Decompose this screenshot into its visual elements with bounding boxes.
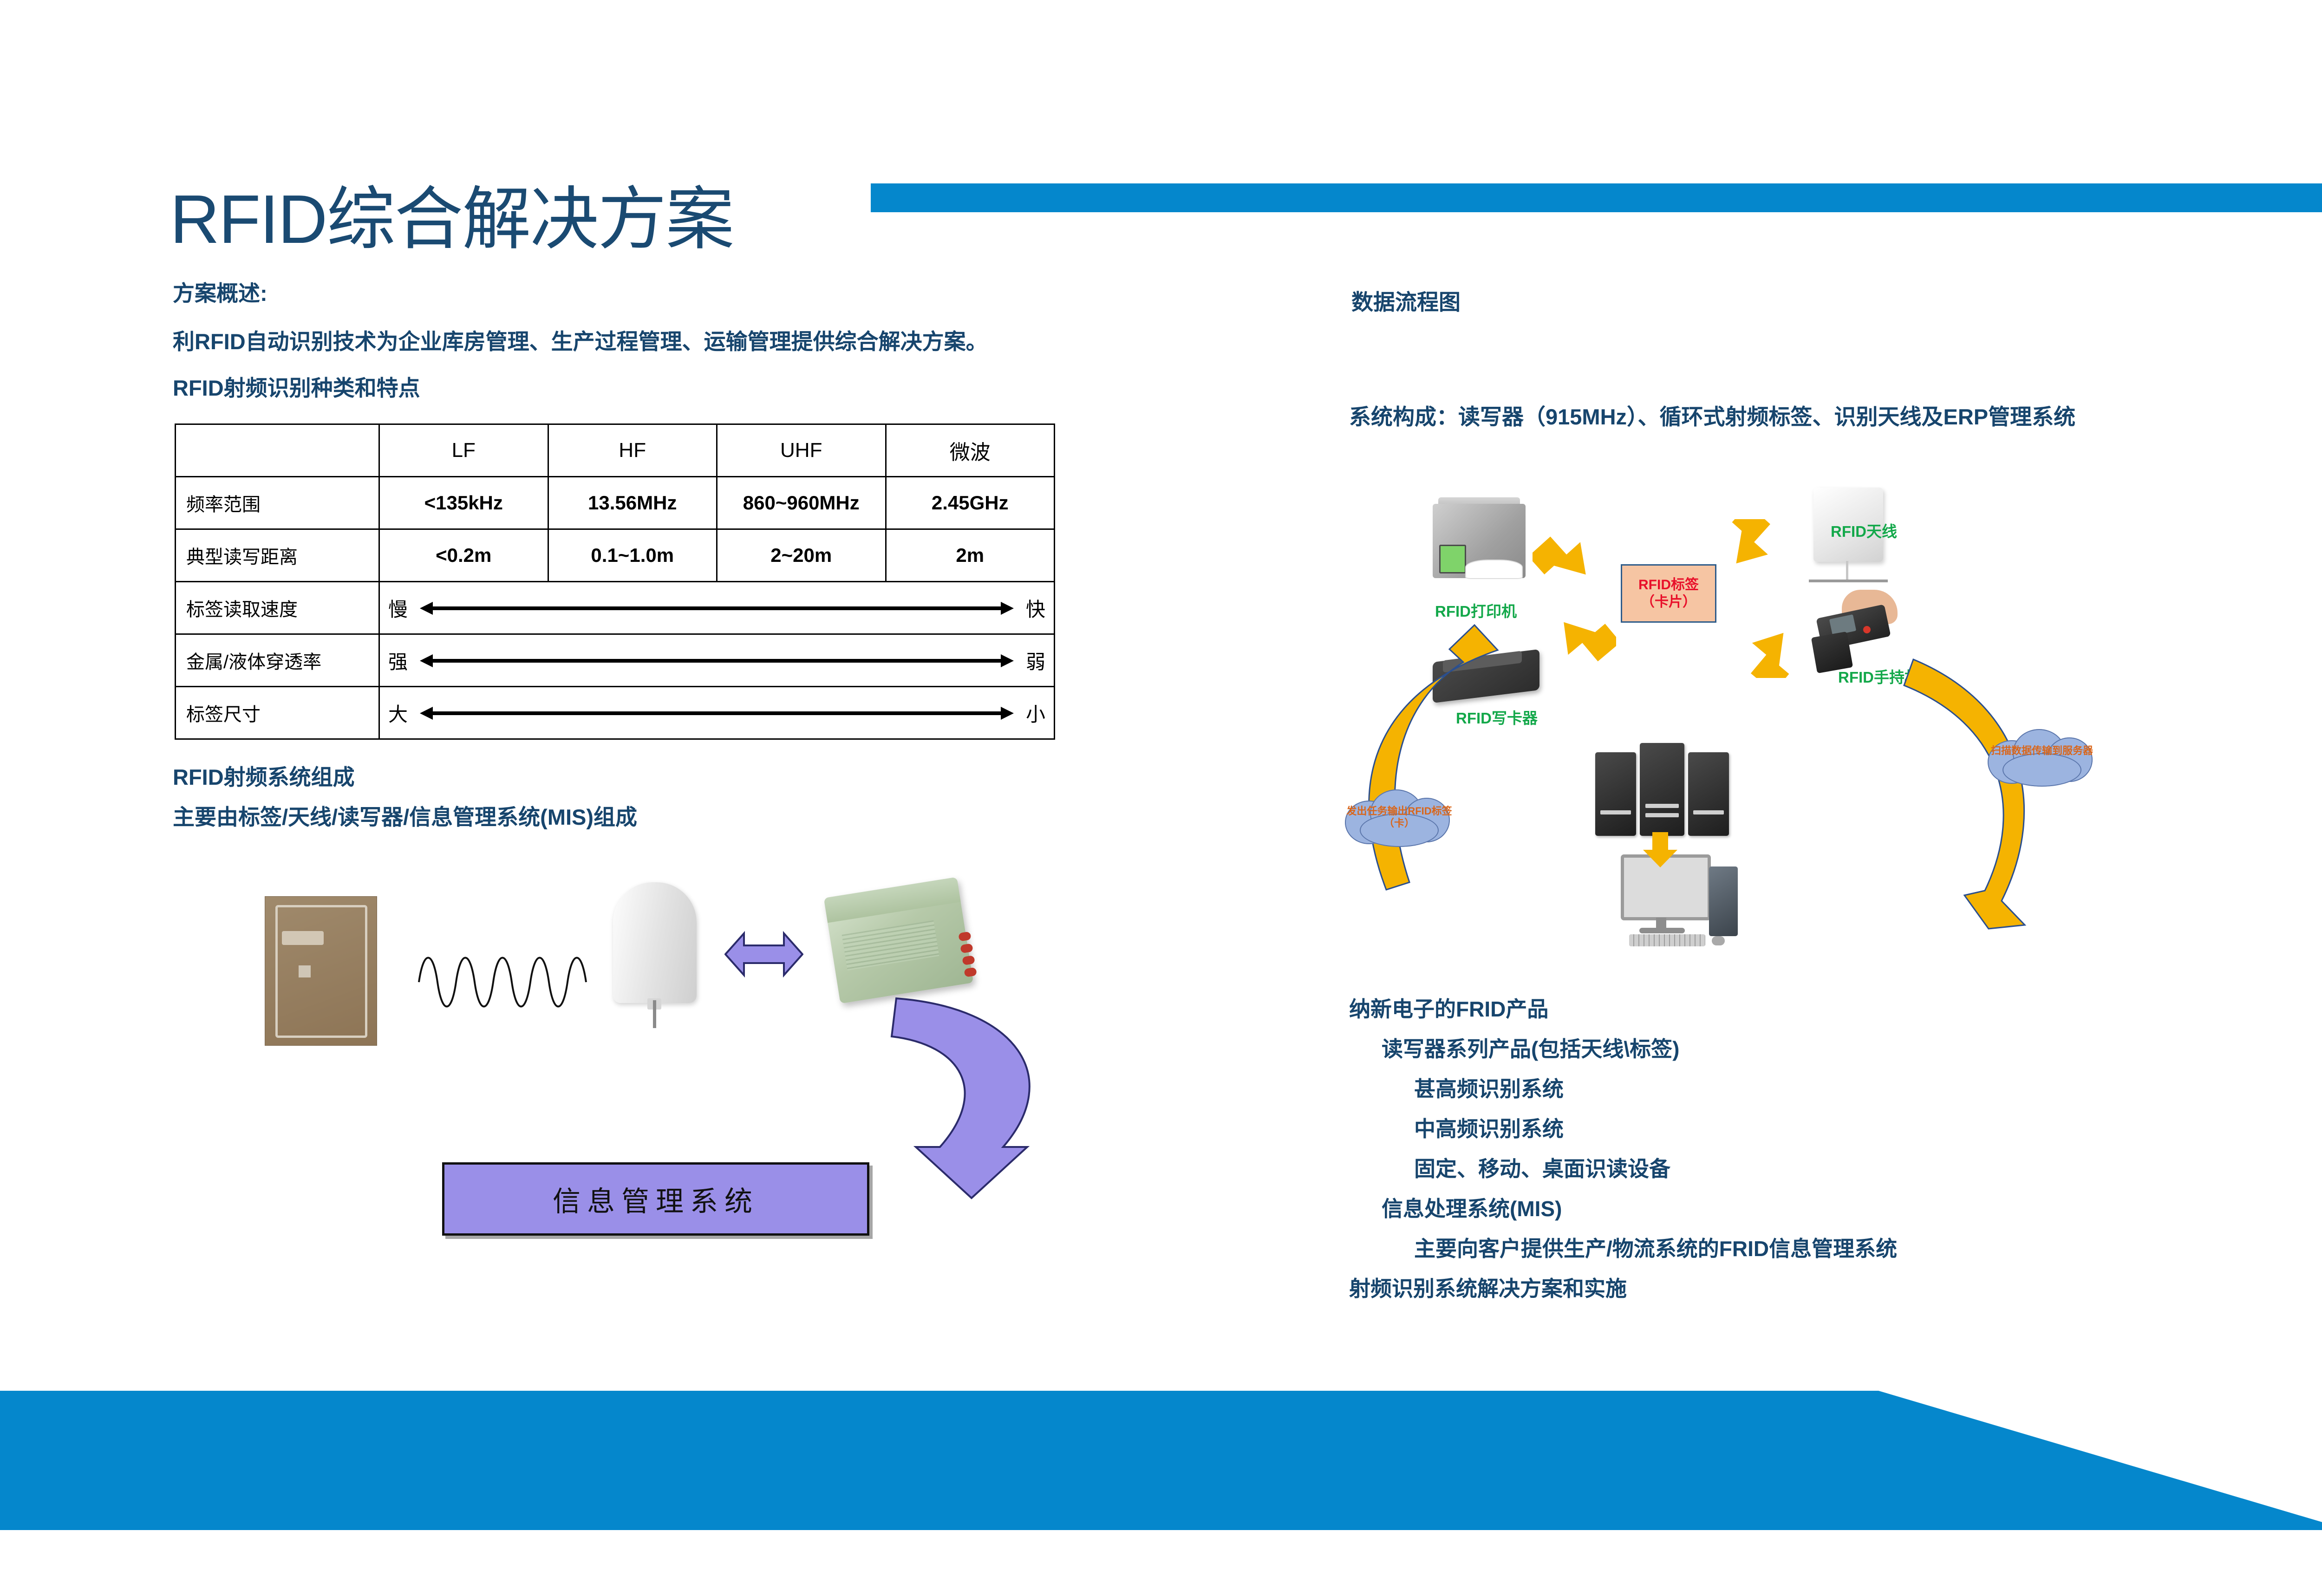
mis-box: 信息管理系统: [442, 1162, 869, 1236]
product-list-item: 主要向客户提供生产/物流系统的FRID信息管理系统: [1414, 1238, 1897, 1259]
table-cell: 13.56MHz: [548, 477, 717, 529]
rfid-antenna-label: RFID天线: [1831, 519, 1897, 541]
rfid-tag-box: RFID标签 （卡片）: [1621, 564, 1716, 623]
table-gradient-cell: 大小: [379, 687, 1055, 739]
table-cell: 860~960MHz: [717, 477, 886, 529]
rfid-tag-box-line1: RFID标签: [1638, 576, 1699, 594]
product-list-item: 中高频识别系统: [1414, 1118, 1564, 1140]
rf-wave-icon: [418, 947, 594, 1017]
system-composition-text: 主要由标签/天线/读写器/信息管理系统(MIS)组成: [173, 801, 637, 834]
table-cell: 2m: [886, 529, 1055, 582]
cloud-right: 扫描数据传输到服务器: [1984, 724, 2100, 789]
table-cell: <135kHz: [379, 477, 548, 529]
double-headed-arrow-icon: [420, 653, 1014, 667]
gradient-right-label: 小: [1026, 699, 1045, 727]
rfid-printer-photo: [1433, 504, 1526, 592]
table-row-header: 频率范围: [176, 477, 379, 529]
table-row: 标签读取速度慢快: [176, 582, 1055, 634]
flow-arrow-printer-to-tag-icon: [1533, 519, 1616, 580]
cloud-left: 发出任务输出RFID标签（卡）: [1341, 785, 1457, 850]
cloud-right-text: 扫描数据传输到服务器: [1984, 745, 2100, 757]
table-corner-cell: [176, 424, 379, 477]
table-cell: 2~20m: [717, 529, 886, 582]
gradient-left-label: 强: [388, 646, 408, 675]
table-row-header: 标签尺寸: [176, 687, 379, 739]
product-list-item: 甚高频识别系统: [1414, 1078, 1564, 1100]
flow-curve-right-icon: [1885, 641, 2053, 938]
desktop-computer-photo: [1621, 854, 1744, 947]
curved-arrow-to-mis-icon: [864, 994, 1077, 1203]
overview-text: 利RFID自动识别技术为企业库房管理、生产过程管理、运输管理提供综合解决方案。: [173, 325, 988, 359]
flow-arrow-tag-to-antenna-icon: [1718, 519, 1802, 580]
overview-label: 方案概述:: [173, 277, 267, 311]
product-list-item: 信息处理系统(MIS): [1382, 1198, 1562, 1219]
table-cell: 2.45GHz: [886, 477, 1055, 529]
gradient-right-label: 弱: [1026, 646, 1045, 675]
table-row: 金属/液体穿透率强弱: [176, 634, 1055, 687]
flow-arrow-writer-to-tag-icon: [1533, 618, 1616, 678]
page-title: RFID综合解决方案: [170, 185, 733, 255]
product-list-item: 纳新电子的FRID产品: [1349, 998, 1548, 1020]
rfid-tag-box-line2: （卡片）: [1641, 593, 1696, 611]
table-column-header: 微波: [886, 424, 1055, 477]
data-flow-label: 数据流程图: [1351, 286, 1461, 319]
flow-arrow-server-to-pc-icon: [1639, 831, 1681, 868]
rfid-printer-label: RFID打印机: [1435, 599, 1517, 621]
table-row: 标签尺寸大小: [176, 687, 1055, 739]
table-row: 频率范围<135kHz13.56MHz860~960MHz2.45GHz: [176, 477, 1055, 529]
table-row-header: 标签读取速度: [176, 582, 379, 634]
table-column-header: UHF: [717, 424, 886, 477]
flow-arrow-tag-to-handheld-icon: [1718, 618, 1802, 678]
page-title-latin: RFID: [170, 181, 326, 258]
types-label: RFID射频识别种类和特点: [173, 371, 420, 405]
table-column-header: HF: [548, 424, 717, 477]
footer-accent-shape: [0, 1391, 2322, 1530]
rfid-antenna-photo: [613, 882, 697, 1017]
table-column-header: LF: [379, 424, 548, 477]
table-gradient-cell: 慢快: [379, 582, 1055, 634]
double-headed-arrow-icon: [420, 706, 1014, 720]
table-cell: 0.1~1.0m: [548, 529, 717, 582]
table-header-row: LFHFUHF微波: [176, 424, 1055, 477]
table-cell: <0.2m: [379, 529, 548, 582]
table-row: 典型读写距离<0.2m0.1~1.0m2~20m2m: [176, 529, 1055, 582]
gradient-left-label: 慢: [388, 594, 408, 622]
table-row-header: 金属/液体穿透率: [176, 634, 379, 687]
server-rack-photo: [1595, 738, 1730, 836]
page-title-cjk: 综合解决方案: [326, 182, 733, 258]
double-headed-arrow-icon: [420, 601, 1014, 615]
double-arrow-icon: [724, 929, 803, 980]
header-accent-bar: [871, 183, 2322, 212]
system-constitution-text: 系统构成：读写器（915MHz）、循环式射频标签、识别天线及ERP管理系统: [1349, 400, 2075, 434]
product-list-item: 射频识别系统解决方案和实施: [1349, 1278, 1627, 1299]
rfid-frequency-table: LFHFUHF微波频率范围<135kHz13.56MHz860~960MHz2.…: [175, 423, 1055, 740]
gradient-right-label: 快: [1026, 594, 1045, 622]
rfid-reader-photo: [824, 877, 973, 1004]
product-list-item: 固定、移动、桌面识读设备: [1414, 1158, 1670, 1179]
gradient-left-label: 大: [388, 699, 408, 727]
flow-curve-left-icon: [1358, 622, 1512, 910]
table-gradient-cell: 强弱: [379, 634, 1055, 687]
product-list-item: 读写器系列产品(包括天线\标签): [1382, 1038, 1679, 1060]
system-composition-title: RFID射频系统组成: [173, 761, 355, 795]
cloud-left-text: 发出任务输出RFID标签（卡）: [1341, 805, 1457, 830]
rfid-tag-photo: [265, 896, 377, 1046]
table-row-header: 典型读写距离: [176, 529, 379, 582]
